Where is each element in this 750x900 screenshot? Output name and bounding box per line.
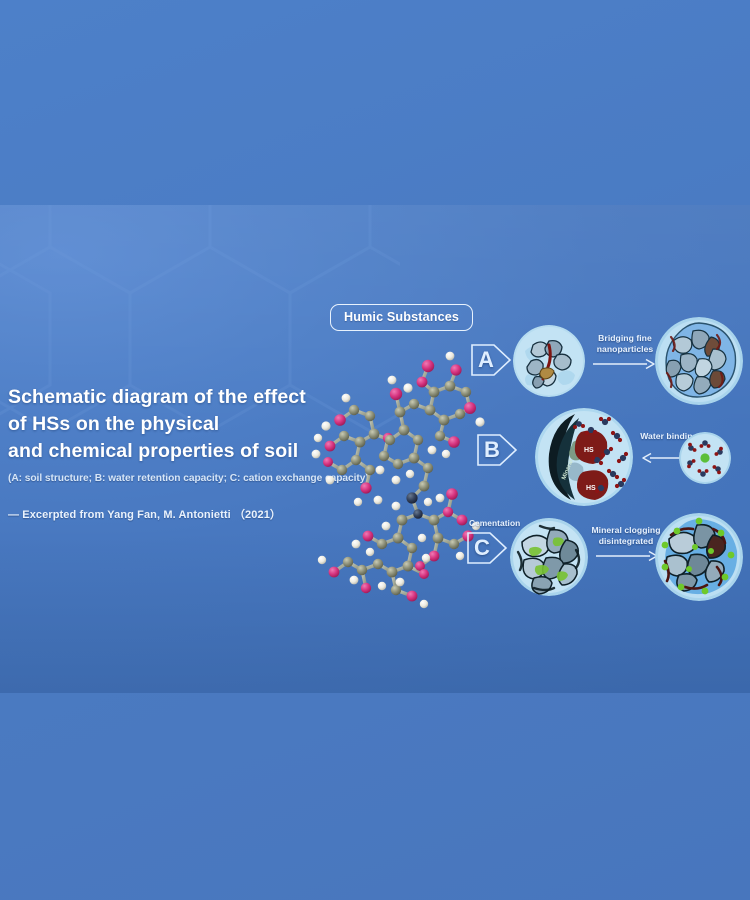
row-c-flow-arrow [596, 549, 658, 563]
disintegrated-minerals-disc [655, 513, 743, 601]
title-line-1: Schematic diagram of the effect [8, 384, 338, 411]
source-citation: — Excerpted from Yang Fan, M. Antonietti… [8, 506, 281, 522]
row-a-letter-marker: A [470, 337, 512, 383]
row-a-flow-arrow [593, 357, 655, 371]
row-c-flow-label: Mineral clogging disintegrated [588, 525, 664, 546]
humic-substances-label: Humic Substances [330, 304, 473, 331]
water-retention-disc: Mineral HS HS [535, 408, 633, 506]
row-a-letter: A [470, 337, 502, 383]
svg-text:HS: HS [586, 485, 596, 492]
infographic-canvas: Schematic diagram of the effect of HSs o… [0, 0, 750, 900]
fine-nanoparticles-disc [513, 325, 585, 397]
aggregated-particles-disc [655, 317, 743, 405]
page-title: Schematic diagram of the effect of HSs o… [8, 384, 338, 465]
hydrated-cation-disc [679, 432, 731, 484]
row-c-letter-marker: C [466, 525, 508, 571]
row-a-flow-label: Bridging fine nanoparticles [589, 333, 661, 354]
heading-block: Schematic diagram of the effect of HSs o… [8, 384, 338, 484]
row-b-letter: B [476, 427, 508, 473]
svg-text:HS: HS [584, 447, 594, 454]
row-c-letter: C [466, 525, 498, 571]
page-subtitle: (A: soil structure; B: water retention c… [8, 473, 338, 484]
title-line-3: and chemical properties of soil [8, 438, 338, 465]
infographic-panel: Schematic diagram of the effect of HSs o… [0, 205, 750, 693]
row-b-letter-marker: B [476, 427, 518, 473]
cemented-minerals-disc [510, 518, 588, 596]
title-line-2: of HSs on the physical [8, 411, 338, 438]
